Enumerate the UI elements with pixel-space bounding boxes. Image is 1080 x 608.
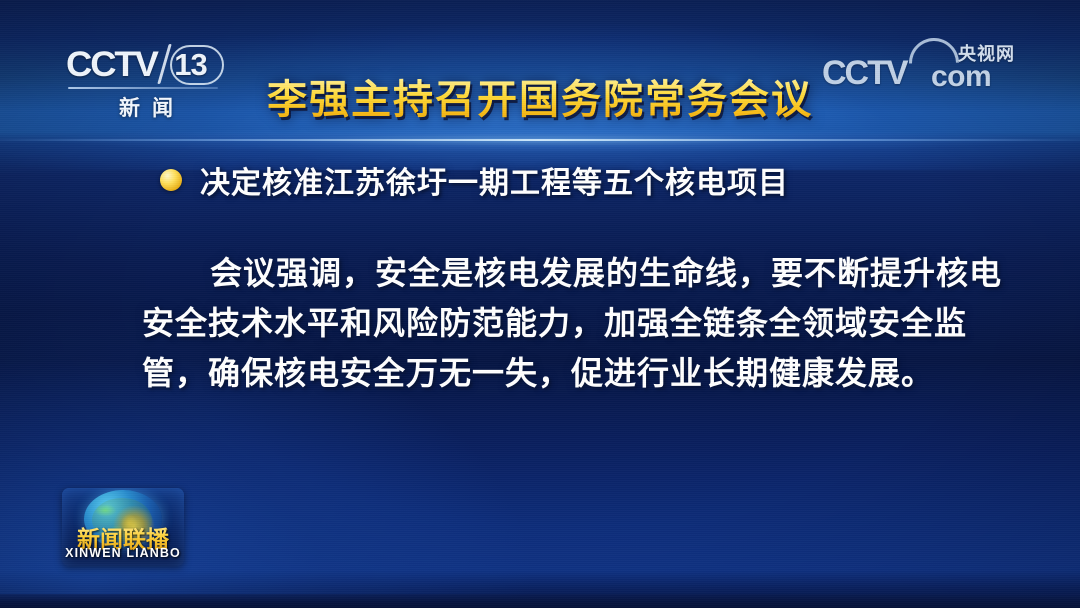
subheadline-text: 决定核准江苏徐圩一期工程等五个核电项目 <box>200 158 789 202</box>
body-line: 会议强调，安全是核电发展的生命线，要不断提升核电 <box>142 248 942 298</box>
broadcast-screen: CCTV 13 新闻 CCTV com 央视网 李强主持召开国务院常务会议 李强… <box>0 0 1080 608</box>
program-title-en: XINWEN LIANBO <box>62 546 184 560</box>
bottom-band <box>0 594 1080 608</box>
body-paragraph: 会议强调，安全是核电发展的生命线，要不断提升核电 安全技术水平和风险防范能力，加… <box>142 248 942 398</box>
bullet-dot-icon <box>160 169 182 191</box>
header-separator-line <box>0 139 1080 141</box>
xinwen-lianbo-bug: 新闻联播 XINWEN LIANBO <box>62 488 184 566</box>
page-title: 李强主持召开国务院常务会议 <box>0 74 1080 126</box>
body-line: 安全技术水平和风险防范能力，加强全链条全领域安全监 <box>142 298 942 348</box>
cctvcom-site-name: 央视网 <box>958 40 1015 66</box>
subheadline-row: 决定核准江苏徐圩一期工程等五个核电项目 <box>160 158 789 202</box>
body-line: 管，确保核电安全万无一失，促进行业长期健康发展。 <box>142 348 942 398</box>
